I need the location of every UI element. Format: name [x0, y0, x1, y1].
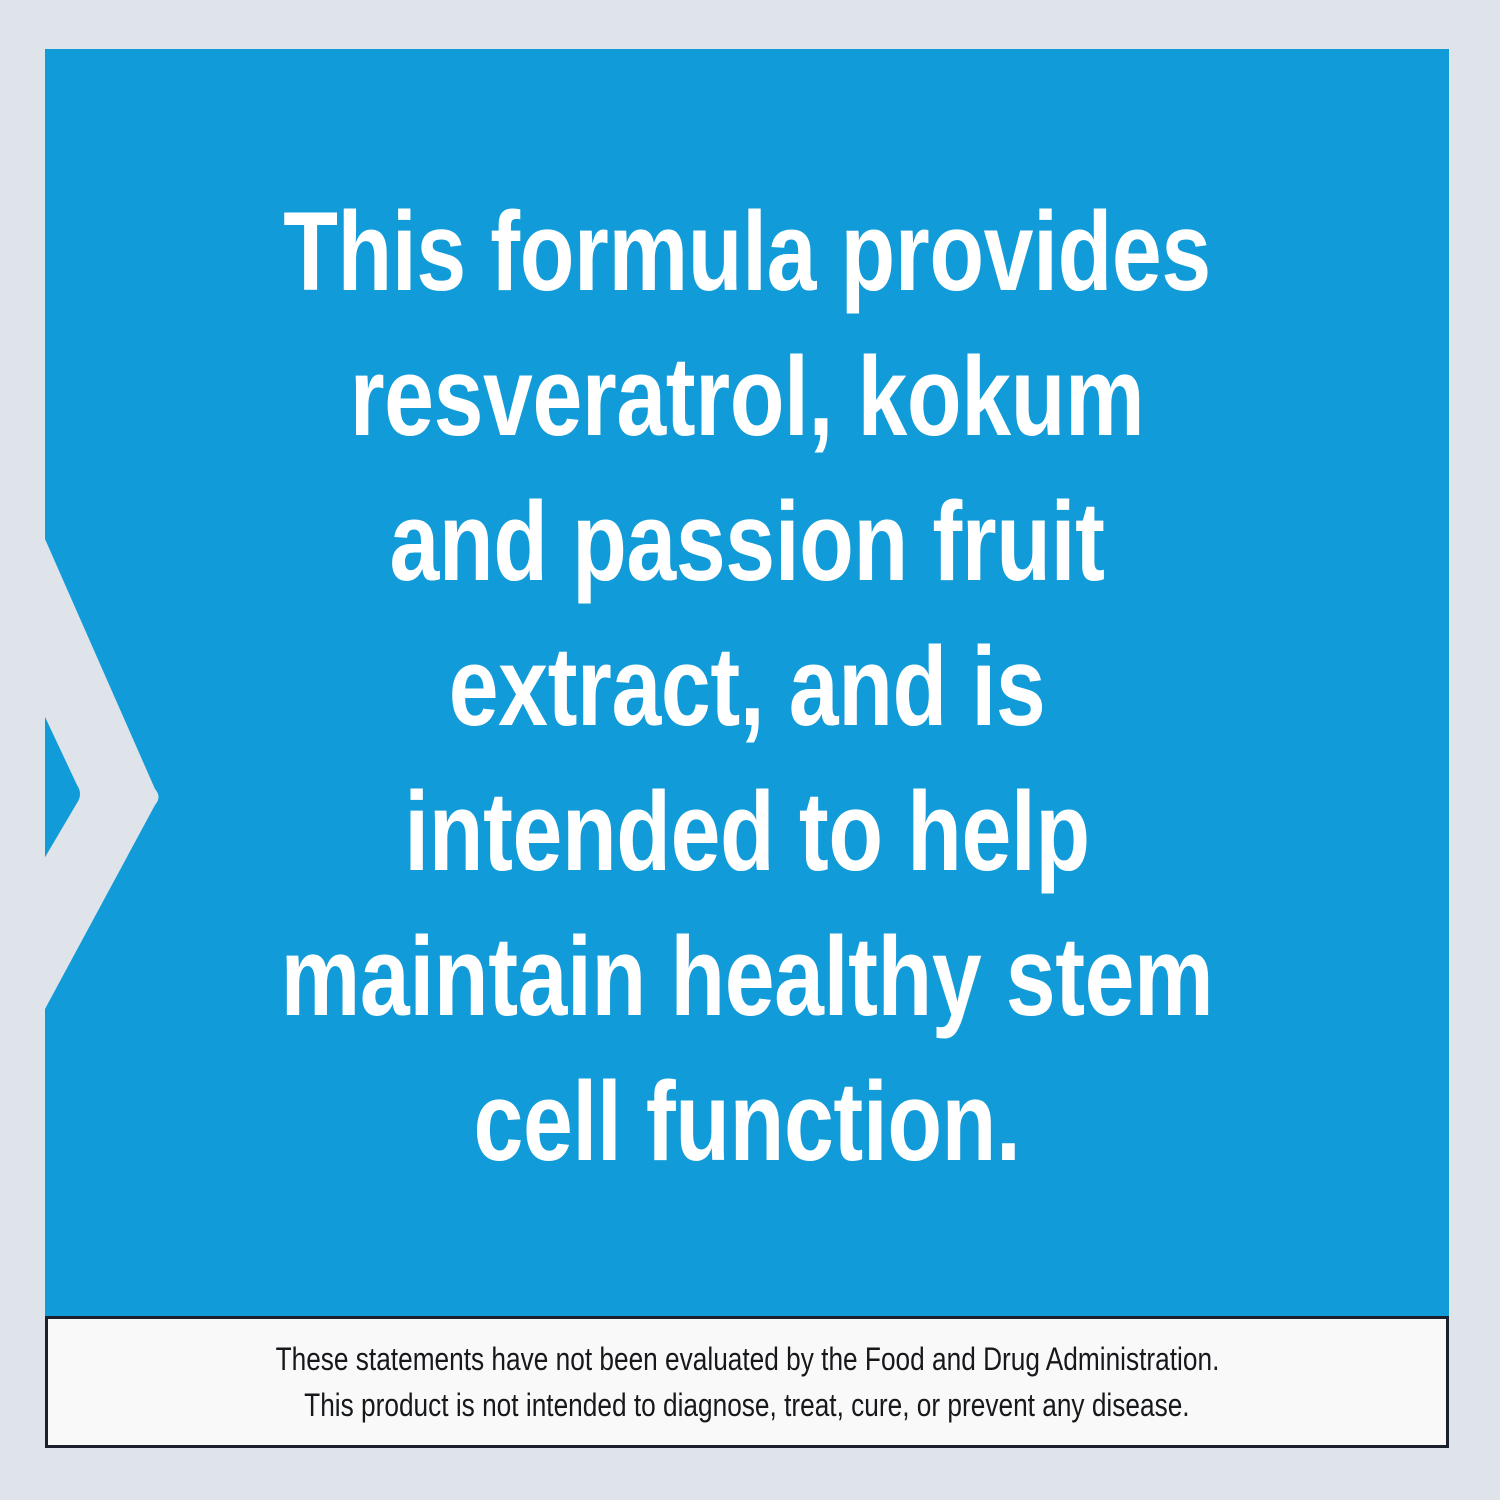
fda-disclaimer-line-1: These statements have not been evaluated… — [275, 1336, 1219, 1382]
headline-text: This formula provides resveratrol, kokum… — [263, 179, 1231, 1194]
fda-disclaimer-line-2: This product is not intended to diagnose… — [304, 1382, 1189, 1428]
product-claim-graphic: This formula provides resveratrol, kokum… — [0, 0, 1500, 1500]
headline-container: This formula provides resveratrol, kokum… — [45, 49, 1449, 1316]
fda-disclaimer-box: These statements have not been evaluated… — [45, 1316, 1449, 1448]
